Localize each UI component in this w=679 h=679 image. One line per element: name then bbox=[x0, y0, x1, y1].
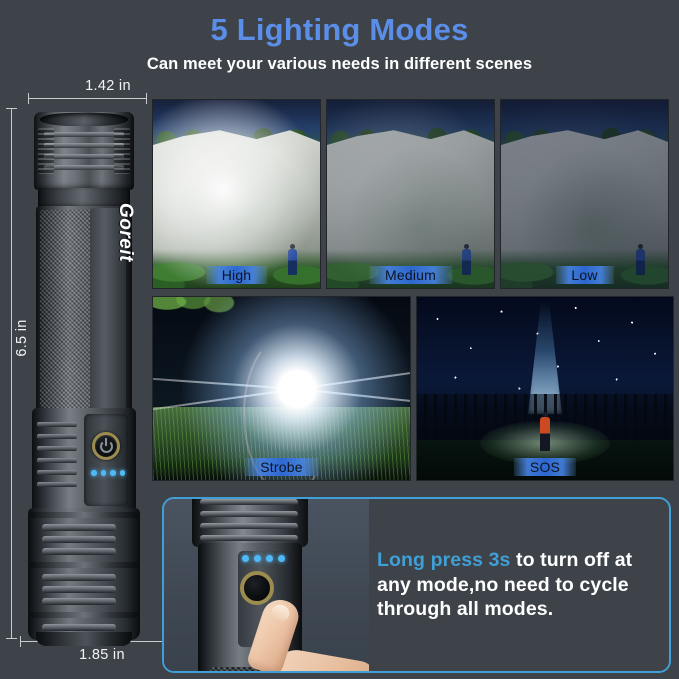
mode-label-high: High bbox=[206, 266, 268, 284]
brand-logo: Goreit bbox=[114, 203, 136, 323]
head-flute bbox=[44, 132, 124, 137]
led-indicator bbox=[254, 555, 261, 562]
power-button[interactable] bbox=[92, 432, 120, 460]
tail-ring bbox=[30, 562, 138, 568]
head-flute bbox=[44, 165, 124, 170]
tail-fin bbox=[42, 598, 116, 605]
led-indicator bbox=[101, 470, 107, 476]
callout-led-indicators bbox=[242, 555, 285, 562]
mid-fin bbox=[37, 458, 77, 463]
header: 5 Lighting Modes Can meet your various n… bbox=[0, 0, 679, 74]
scene-strobe-night bbox=[153, 297, 410, 480]
dimension-width-bottom: 1.85 in bbox=[42, 647, 162, 663]
head-flute bbox=[44, 143, 124, 148]
led-indicator bbox=[120, 470, 126, 476]
scene-sos-night bbox=[417, 297, 673, 480]
callout-fin bbox=[200, 499, 298, 505]
mid-fin bbox=[37, 482, 77, 487]
mode-label-sos: SOS bbox=[514, 458, 576, 476]
mode-photo-high: High bbox=[152, 99, 321, 289]
callout-fin bbox=[200, 511, 298, 517]
dimension-tick-side-top bbox=[6, 108, 17, 109]
body-knurling bbox=[40, 210, 92, 408]
flashlight-bezel bbox=[40, 113, 128, 126]
scene-rock-face bbox=[501, 100, 668, 288]
led-indicator bbox=[278, 555, 285, 562]
mode-photo-medium: Medium bbox=[326, 99, 495, 289]
tail-fin bbox=[42, 548, 116, 555]
page-title: 5 Lighting Modes bbox=[0, 0, 679, 48]
product-flashlight: Goreit bbox=[22, 112, 146, 640]
callout-photo bbox=[164, 499, 369, 671]
led-indicator bbox=[242, 555, 249, 562]
tail-fin bbox=[42, 624, 116, 631]
dimension-tick-top-right bbox=[146, 93, 147, 104]
dimension-tick-side-bottom bbox=[6, 638, 17, 639]
mode-grid-row-1: High Medium bbox=[152, 99, 669, 289]
tail-fin bbox=[42, 586, 116, 593]
dimension-tick-top-left bbox=[28, 93, 29, 104]
mode-photo-strobe: Strobe bbox=[152, 296, 411, 481]
scene-person bbox=[288, 249, 297, 275]
mid-fin bbox=[37, 446, 77, 451]
mid-fin bbox=[37, 434, 77, 439]
flashlight-tail-cap bbox=[36, 632, 132, 646]
flashlight-midsection bbox=[32, 408, 136, 512]
tail-fin bbox=[42, 536, 116, 543]
scene-light-flare bbox=[182, 296, 411, 481]
callout-fin bbox=[200, 535, 298, 541]
mode-label-strobe: Strobe bbox=[244, 458, 318, 476]
led-indicator bbox=[110, 470, 116, 476]
mode-photo-sos: SOS bbox=[416, 296, 674, 481]
callout-text-zone: Long press 3s to turn off at any mode,no… bbox=[369, 499, 669, 671]
dimension-line-side bbox=[11, 108, 12, 638]
dimension-tick-bottom-left bbox=[20, 636, 21, 647]
callout-highlight: Long press 3s bbox=[377, 549, 511, 571]
dimension-line-top bbox=[28, 98, 146, 99]
tail-fin bbox=[42, 524, 116, 531]
callout-flashlight-head bbox=[192, 499, 308, 547]
scene-rock-face bbox=[153, 100, 320, 288]
mid-fin bbox=[37, 422, 77, 427]
mode-label-medium: Medium bbox=[369, 266, 452, 284]
page-subtitle: Can meet your various needs in different… bbox=[0, 48, 679, 74]
dimension-width-top: 1.42 in bbox=[58, 78, 158, 94]
power-icon bbox=[100, 440, 113, 453]
flashlight-head bbox=[34, 112, 134, 190]
battery-indicator-leds bbox=[91, 470, 125, 476]
flashlight-tail bbox=[28, 508, 140, 640]
infographic-page: 5 Lighting Modes Can meet your various n… bbox=[0, 0, 679, 679]
mode-photo-low: Low bbox=[500, 99, 669, 289]
scene-person bbox=[540, 417, 550, 451]
tail-ring bbox=[30, 612, 138, 618]
scene-rock-face bbox=[327, 100, 494, 288]
callout-fin bbox=[200, 523, 298, 529]
mode-grid-row-2: Strobe SOS bbox=[152, 296, 674, 481]
tail-fin bbox=[42, 574, 116, 581]
mode-label-low: Low bbox=[555, 266, 613, 284]
hand-pressing-button bbox=[256, 599, 369, 671]
head-flute bbox=[44, 154, 124, 159]
long-press-callout: Long press 3s to turn off at any mode,no… bbox=[162, 497, 671, 673]
fingernail bbox=[269, 602, 291, 623]
led-indicator bbox=[91, 470, 97, 476]
tail-ring bbox=[30, 512, 138, 518]
led-indicator bbox=[266, 555, 273, 562]
callout-text: Long press 3s to turn off at any mode,no… bbox=[377, 548, 653, 623]
head-knurl-right bbox=[114, 128, 130, 174]
mid-fin bbox=[37, 470, 77, 475]
switch-plate bbox=[84, 414, 128, 506]
scene-shade bbox=[327, 100, 494, 288]
scene-shade bbox=[501, 100, 668, 288]
head-knurl-left bbox=[38, 128, 54, 174]
